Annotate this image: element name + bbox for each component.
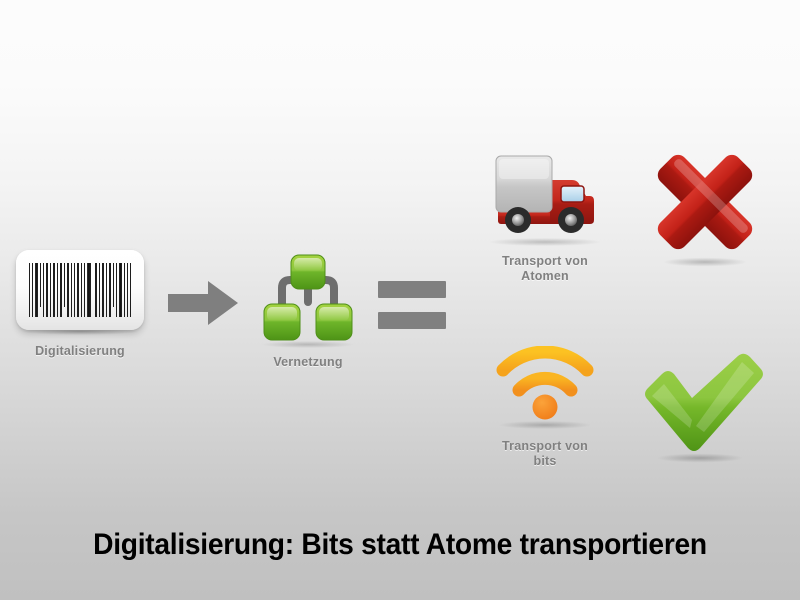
barcode-bar: [77, 263, 79, 317]
wifi-signal-icon: [495, 346, 595, 426]
equals-bar-top: [378, 281, 446, 298]
barcode-bar: [43, 263, 44, 317]
barcode-bar: [71, 263, 72, 317]
barcode-bar: [50, 263, 51, 317]
slide-title: Digitalisierung: Bits statt Atome transp…: [24, 528, 776, 562]
stage-digitalisierung: Digitalisierung: [14, 250, 146, 359]
barcode-bars: [29, 263, 131, 317]
right-arrow-icon: [168, 278, 240, 328]
verdict-no: [630, 140, 780, 270]
red-cross-icon: [630, 140, 780, 270]
barcode-bar: [57, 263, 58, 317]
barcode-bar: [81, 263, 82, 317]
barcode-bar: [32, 263, 33, 317]
network-nodes-svg: [260, 252, 356, 344]
green-check-icon: [628, 348, 780, 468]
verdict-yes: [628, 348, 780, 468]
network-nodes-icon: [260, 252, 356, 344]
stage-label-vernetzung: Vernetzung: [252, 355, 364, 370]
flow-arrow: [168, 278, 240, 328]
barcode-bar: [109, 263, 111, 317]
barcode-bar: [116, 263, 117, 317]
barcode-bar: [106, 263, 107, 317]
barcode-bar: [53, 263, 56, 317]
barcode-bar: [84, 263, 85, 317]
barcode-icon: [16, 250, 144, 330]
barcode-bar: [87, 263, 90, 317]
outcome-label-bits: Transport von bits: [478, 439, 612, 469]
stage-label-digitalisierung: Digitalisierung: [14, 344, 146, 359]
outcome-bits: Transport von bits: [478, 346, 612, 469]
barcode-bar: [46, 263, 48, 317]
barcode-bar: [95, 263, 96, 317]
outcome-atoms: Transport von Atomen: [478, 146, 612, 284]
equals-bar-bottom: [378, 312, 446, 329]
barcode-bar: [119, 263, 122, 317]
barcode-bar: [29, 263, 30, 317]
barcode-bar: [130, 263, 131, 317]
barcode-bar: [113, 263, 114, 307]
wifi-signal-svg: [495, 346, 595, 426]
stage-vernetzung: Vernetzung: [252, 252, 364, 370]
barcode-bar: [40, 263, 41, 307]
outcome-label-atoms: Transport von Atomen: [478, 254, 612, 284]
equals-sign-icon: [378, 281, 446, 329]
barcode-bar: [99, 263, 100, 317]
barcode-bar: [93, 263, 94, 317]
barcode-bar: [127, 263, 128, 317]
barcode-bar: [74, 263, 75, 317]
barcode-bar: [35, 263, 37, 317]
delivery-truck-icon: [484, 146, 606, 242]
barcode-bar: [64, 263, 65, 307]
delivery-truck-svg: [484, 146, 606, 242]
barcode-bar: [102, 263, 104, 317]
barcode-bar: [60, 263, 61, 317]
slide-canvas: Digitalisierung: [0, 0, 800, 600]
barcode-bar: [67, 263, 69, 317]
barcode-bar: [124, 263, 125, 317]
